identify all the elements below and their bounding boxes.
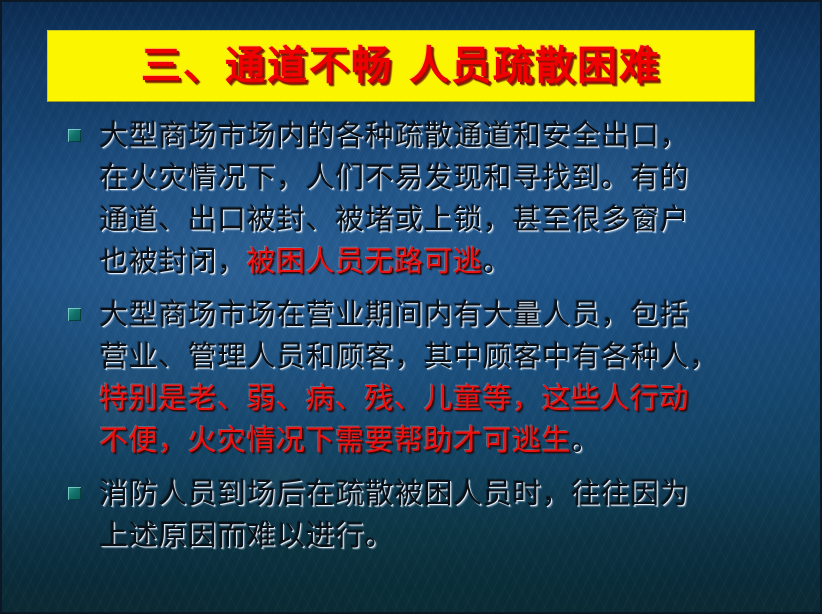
emphasis-text-run: 被困人员无路可逃: [247, 244, 483, 278]
bullet-block: 大型商场市场在营业期间内有大量人员，包括营业、管理人员和顾客，其中顾客中有各种人…: [68, 293, 784, 461]
text-run: 。: [483, 244, 513, 278]
text-run: 。: [571, 423, 601, 457]
bullet-block: 大型商场市场内的各种疏散通道和安全出口，在火灾情况下，人们不易发现和寻找到。有的…: [68, 114, 784, 282]
slide-title: 三、通道不畅 人员疏散困难: [141, 46, 661, 86]
bullet-line: 不便，火灾情况下需要帮助才可逃生。: [99, 419, 784, 461]
text-run: 大型商场市场在营业期间内有大量人员，包括: [99, 297, 689, 331]
text-run: 通道、出口被封、被堵或上锁，甚至很多窗户: [99, 202, 689, 236]
bullet-line: 在火灾情况下，人们不易发现和寻找到。有的: [99, 156, 784, 198]
presentation-slide: 三、通道不畅 人员疏散困难 大型商场市场内的各种疏散通道和安全出口，在火灾情况下…: [0, 0, 822, 614]
bullet-line: 上述原因而难以进行。: [99, 514, 784, 556]
emphasis-text-run: 特别是老、弱、病、残、儿童等，这些人行动: [99, 381, 689, 415]
bullet-line: 大型商场市场在营业期间内有大量人员，包括: [99, 293, 784, 335]
emphasis-text-run: 不便，火灾情况下需要帮助才可逃生: [99, 423, 571, 457]
bullet-line: 营业、管理人员和顾客，其中顾客中有各种人，: [99, 335, 784, 377]
bullet-line: 也被封闭，被困人员无路可逃。: [99, 240, 784, 282]
bullet-block: 消防人员到场后在疏散被困人员时，往往因为上述原因而难以进行。: [68, 472, 784, 556]
text-run: 大型商场市场内的各种疏散通道和安全出口，: [99, 118, 689, 152]
square-bullet-icon: [68, 129, 81, 142]
text-run: 上述原因而难以进行。: [99, 518, 394, 552]
text-run: 在火灾情况下，人们不易发现和寻找到。有的: [99, 160, 689, 194]
text-run: 消防人员到场后在疏散被困人员时，往往因为: [99, 476, 689, 510]
bullet-line: 大型商场市场内的各种疏散通道和安全出口，: [99, 114, 784, 156]
square-bullet-icon: [68, 487, 81, 500]
square-bullet-icon: [68, 308, 81, 321]
bullet-line: 通道、出口被封、被堵或上锁，甚至很多窗户: [99, 198, 784, 240]
bullet-line: 消防人员到场后在疏散被困人员时，往往因为: [99, 472, 784, 514]
slide-title-banner: 三、通道不畅 人员疏散困难: [47, 30, 755, 102]
text-run: 也被封闭，: [99, 244, 247, 278]
text-run: 营业、管理人员和顾客，其中顾客中有各种人，: [99, 339, 719, 373]
slide-body: 大型商场市场内的各种疏散通道和安全出口，在火灾情况下，人们不易发现和寻找到。有的…: [2, 114, 822, 567]
bullet-line: 特别是老、弱、病、残、儿童等，这些人行动: [99, 377, 784, 419]
